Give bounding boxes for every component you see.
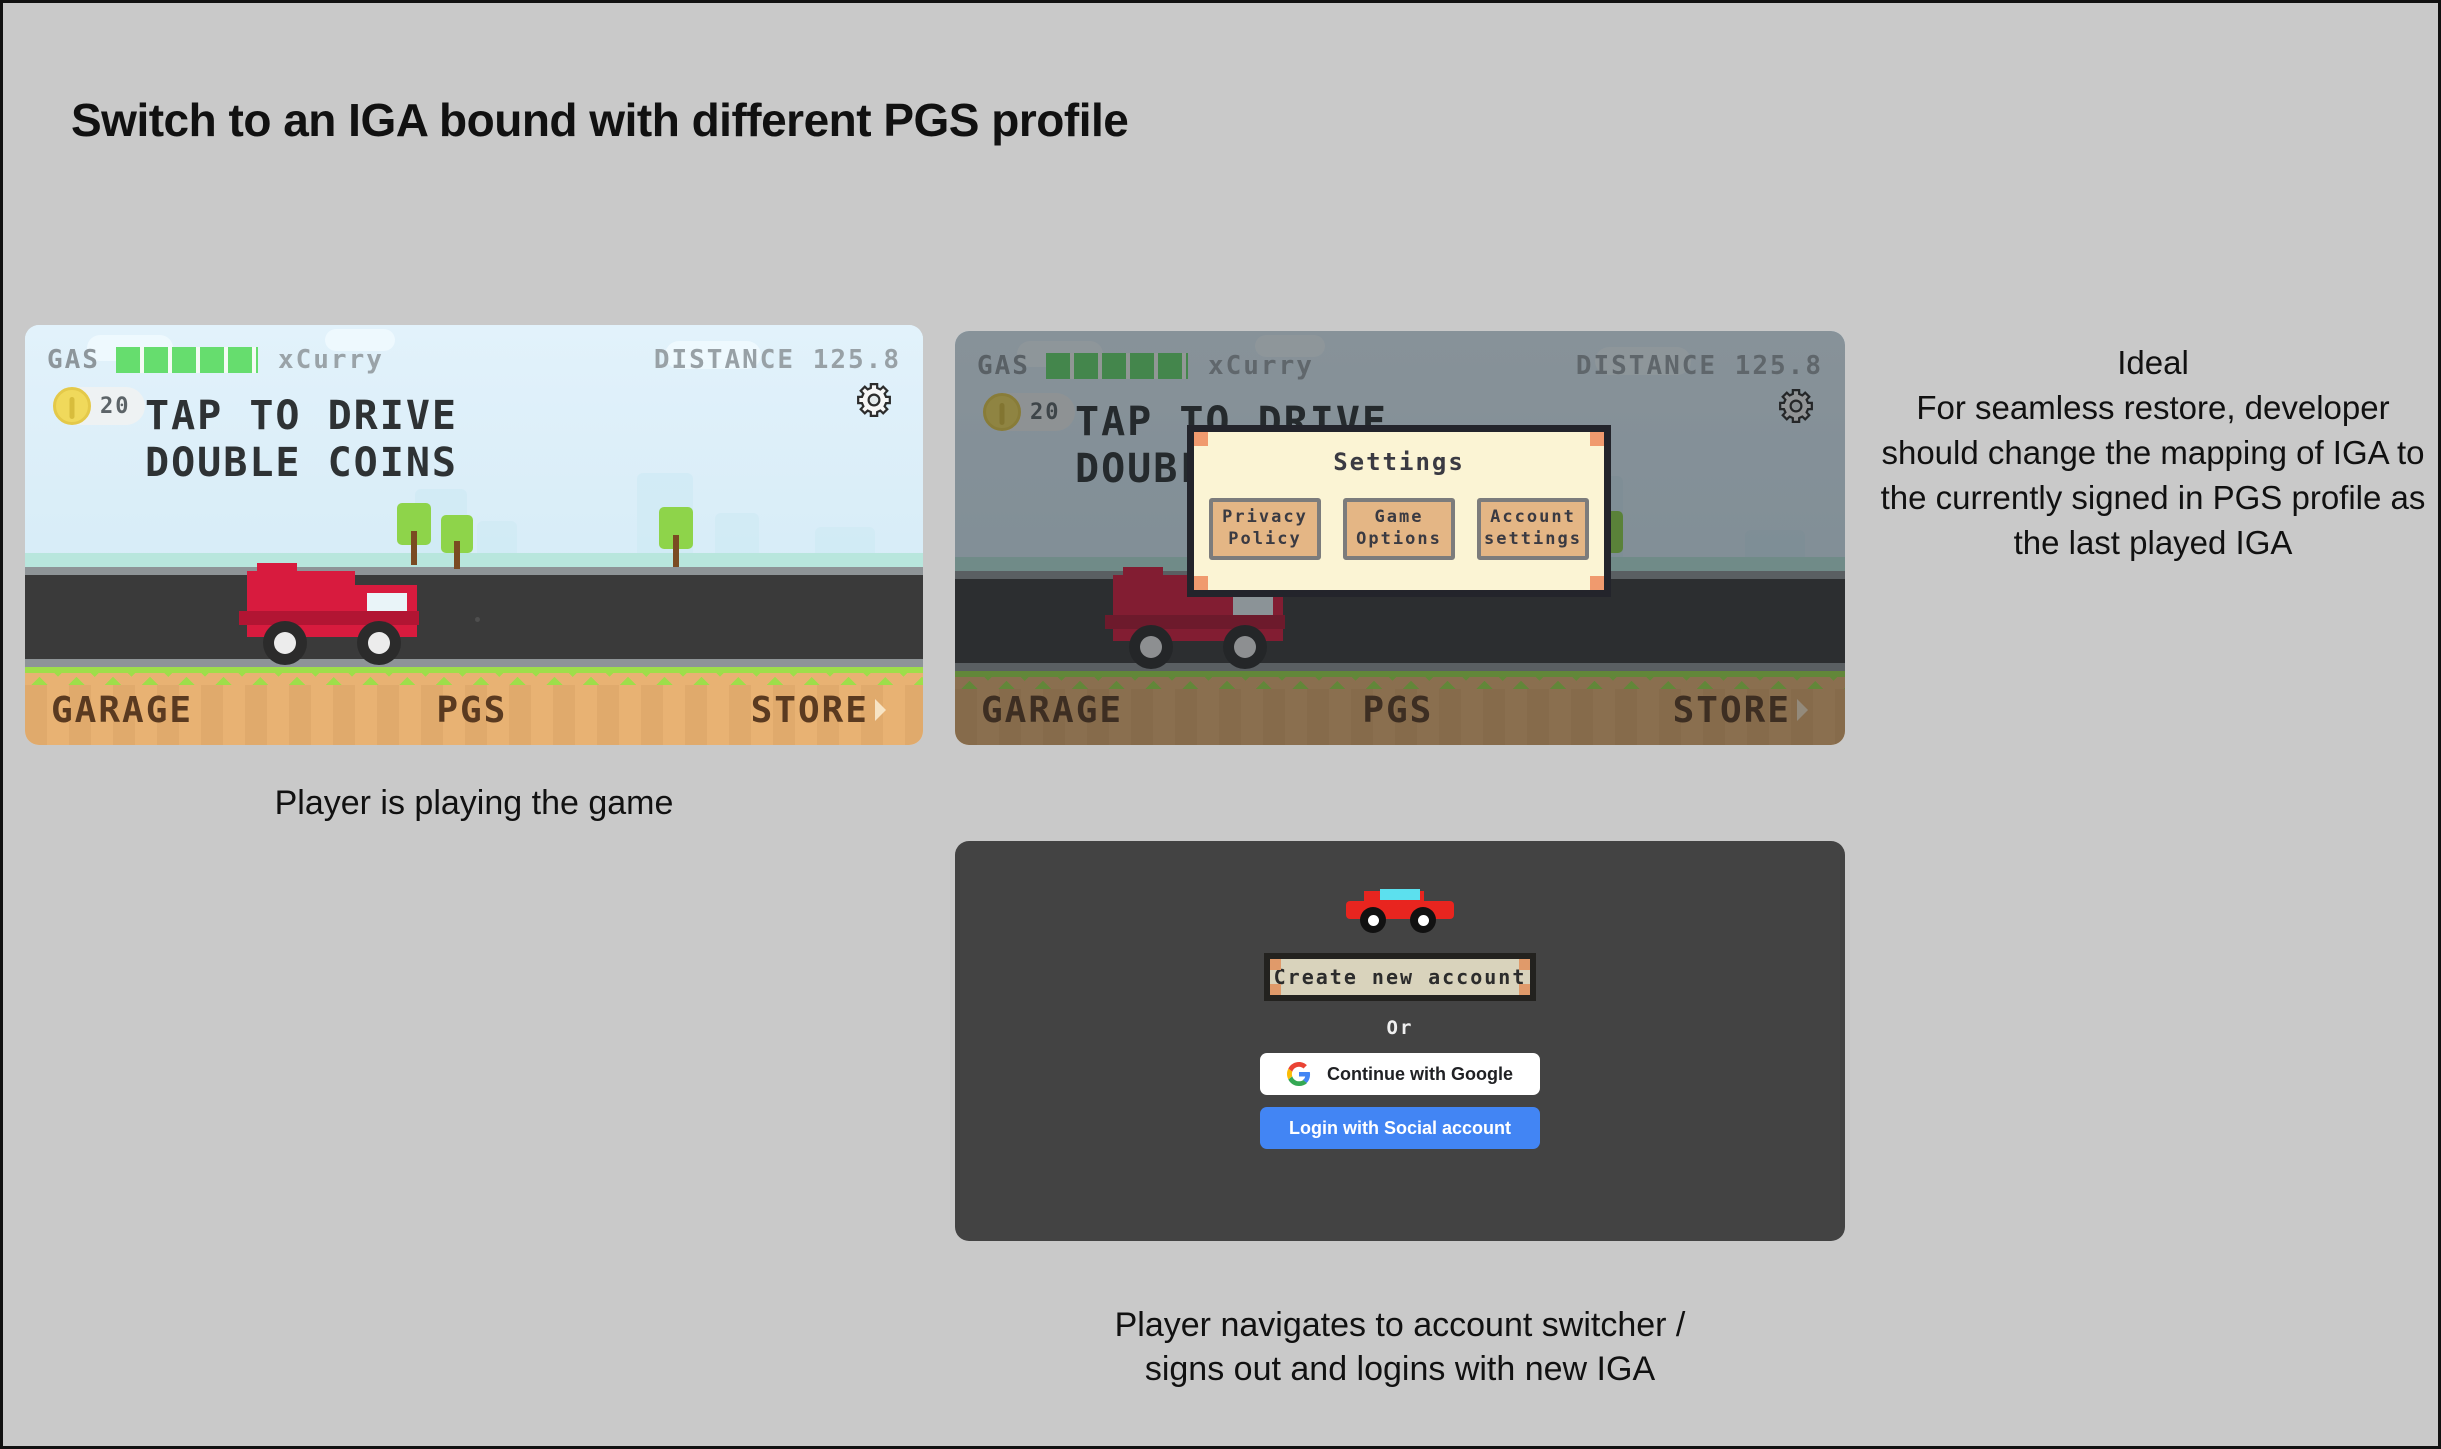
tap-to-drive-prompt: TAP TO DRIVE DOUBLE COINS xyxy=(145,393,458,487)
caption-playing: Player is playing the game xyxy=(25,781,923,825)
corner-pixel xyxy=(1194,432,1208,446)
player-vehicle-truck xyxy=(239,563,435,667)
corner-pixel xyxy=(1194,576,1208,590)
corner-pixel xyxy=(1270,959,1281,970)
create-new-account-button[interactable]: Create new account xyxy=(1264,953,1536,1001)
side-note-heading: Ideal xyxy=(1875,341,2431,386)
tap-line-1: TAP TO DRIVE xyxy=(145,393,458,440)
tree xyxy=(441,515,473,569)
settings-button-row: Privacy Policy Game Options Account sett… xyxy=(1194,498,1604,560)
account-settings-button[interactable]: Account settings xyxy=(1477,498,1589,560)
game-panel-settings[interactable]: GAS xCurry DISTANCE 125.8 20 TAP TO DRIV… xyxy=(955,331,1845,745)
game-panel-playing[interactable]: GAS xCurry DISTANCE 125.8 20 TAP TO DRIV… xyxy=(25,325,923,745)
button-label-line1: Account xyxy=(1490,507,1576,529)
nav-store[interactable]: STORE xyxy=(751,690,869,731)
corner-pixel xyxy=(1519,959,1530,970)
button-label-line2: Options xyxy=(1356,529,1442,551)
road-speck xyxy=(475,617,480,622)
coin-amount: 20 xyxy=(100,394,131,419)
social-button-label: Login with Social account xyxy=(1289,1118,1511,1139)
caption-line-1: Player navigates to account switcher / xyxy=(955,1303,1845,1347)
game-options-button[interactable]: Game Options xyxy=(1343,498,1455,560)
coin-icon xyxy=(53,387,91,425)
or-divider-label: Or xyxy=(1387,1017,1414,1039)
nav-pgs[interactable]: PGS xyxy=(436,690,507,731)
tree xyxy=(397,503,431,565)
button-label-line1: Privacy xyxy=(1222,507,1308,529)
page-title: Switch to an IGA bound with different PG… xyxy=(71,93,1128,147)
gas-bar xyxy=(116,347,258,373)
button-label-line2: Policy xyxy=(1228,529,1301,551)
create-account-label: Create new account xyxy=(1274,965,1527,989)
privacy-policy-button[interactable]: Privacy Policy xyxy=(1209,498,1321,560)
gear-icon[interactable] xyxy=(855,381,893,419)
side-note-body: For seamless restore, developer should c… xyxy=(1875,386,2431,566)
distance-label: DISTANCE 125.8 xyxy=(654,345,901,375)
corner-pixel xyxy=(1519,984,1530,995)
corner-pixel xyxy=(1270,984,1281,995)
continue-with-google-button[interactable]: Continue with Google xyxy=(1260,1053,1540,1095)
account-switcher-panel[interactable]: Create new account Or Continue with Goog… xyxy=(955,841,1845,1241)
road-curb-top xyxy=(25,567,923,575)
login-with-social-button[interactable]: Login with Social account xyxy=(1260,1107,1540,1149)
road xyxy=(25,575,923,659)
button-label-line2: settings xyxy=(1484,529,1582,551)
car-sprite xyxy=(1346,887,1454,931)
hud-top-row: GAS xCurry DISTANCE 125.8 xyxy=(25,343,923,377)
slide-root: { "slide": { "title": "Switch to an IGA … xyxy=(0,0,2441,1449)
store-arrow-icon xyxy=(875,699,897,721)
corner-pixel xyxy=(1590,576,1604,590)
tree xyxy=(659,507,693,567)
settings-dialog[interactable]: Settings Privacy Policy Game Options Acc… xyxy=(1187,425,1611,597)
horizon-strip xyxy=(25,553,923,567)
username-label: xCurry xyxy=(278,345,384,375)
button-label-line1: Game xyxy=(1375,507,1424,529)
side-note: Ideal For seamless restore, developer sh… xyxy=(1875,341,2431,565)
google-button-label: Continue with Google xyxy=(1327,1064,1513,1085)
coin-counter[interactable]: 20 xyxy=(53,387,145,425)
gas-label: GAS xyxy=(47,345,100,375)
tap-line-2: DOUBLE COINS xyxy=(145,440,458,487)
nav-garage[interactable]: GARAGE xyxy=(51,690,193,731)
google-g-icon xyxy=(1287,1062,1311,1086)
settings-dialog-title: Settings xyxy=(1194,448,1604,476)
road-curb-bottom xyxy=(25,659,923,667)
caption-account-switch: Player navigates to account switcher / s… xyxy=(955,1303,1845,1391)
corner-pixel xyxy=(1590,432,1604,446)
caption-line-2: signs out and logins with new IGA xyxy=(955,1347,1845,1391)
bottom-nav: GARAGE PGS STORE xyxy=(25,687,923,733)
